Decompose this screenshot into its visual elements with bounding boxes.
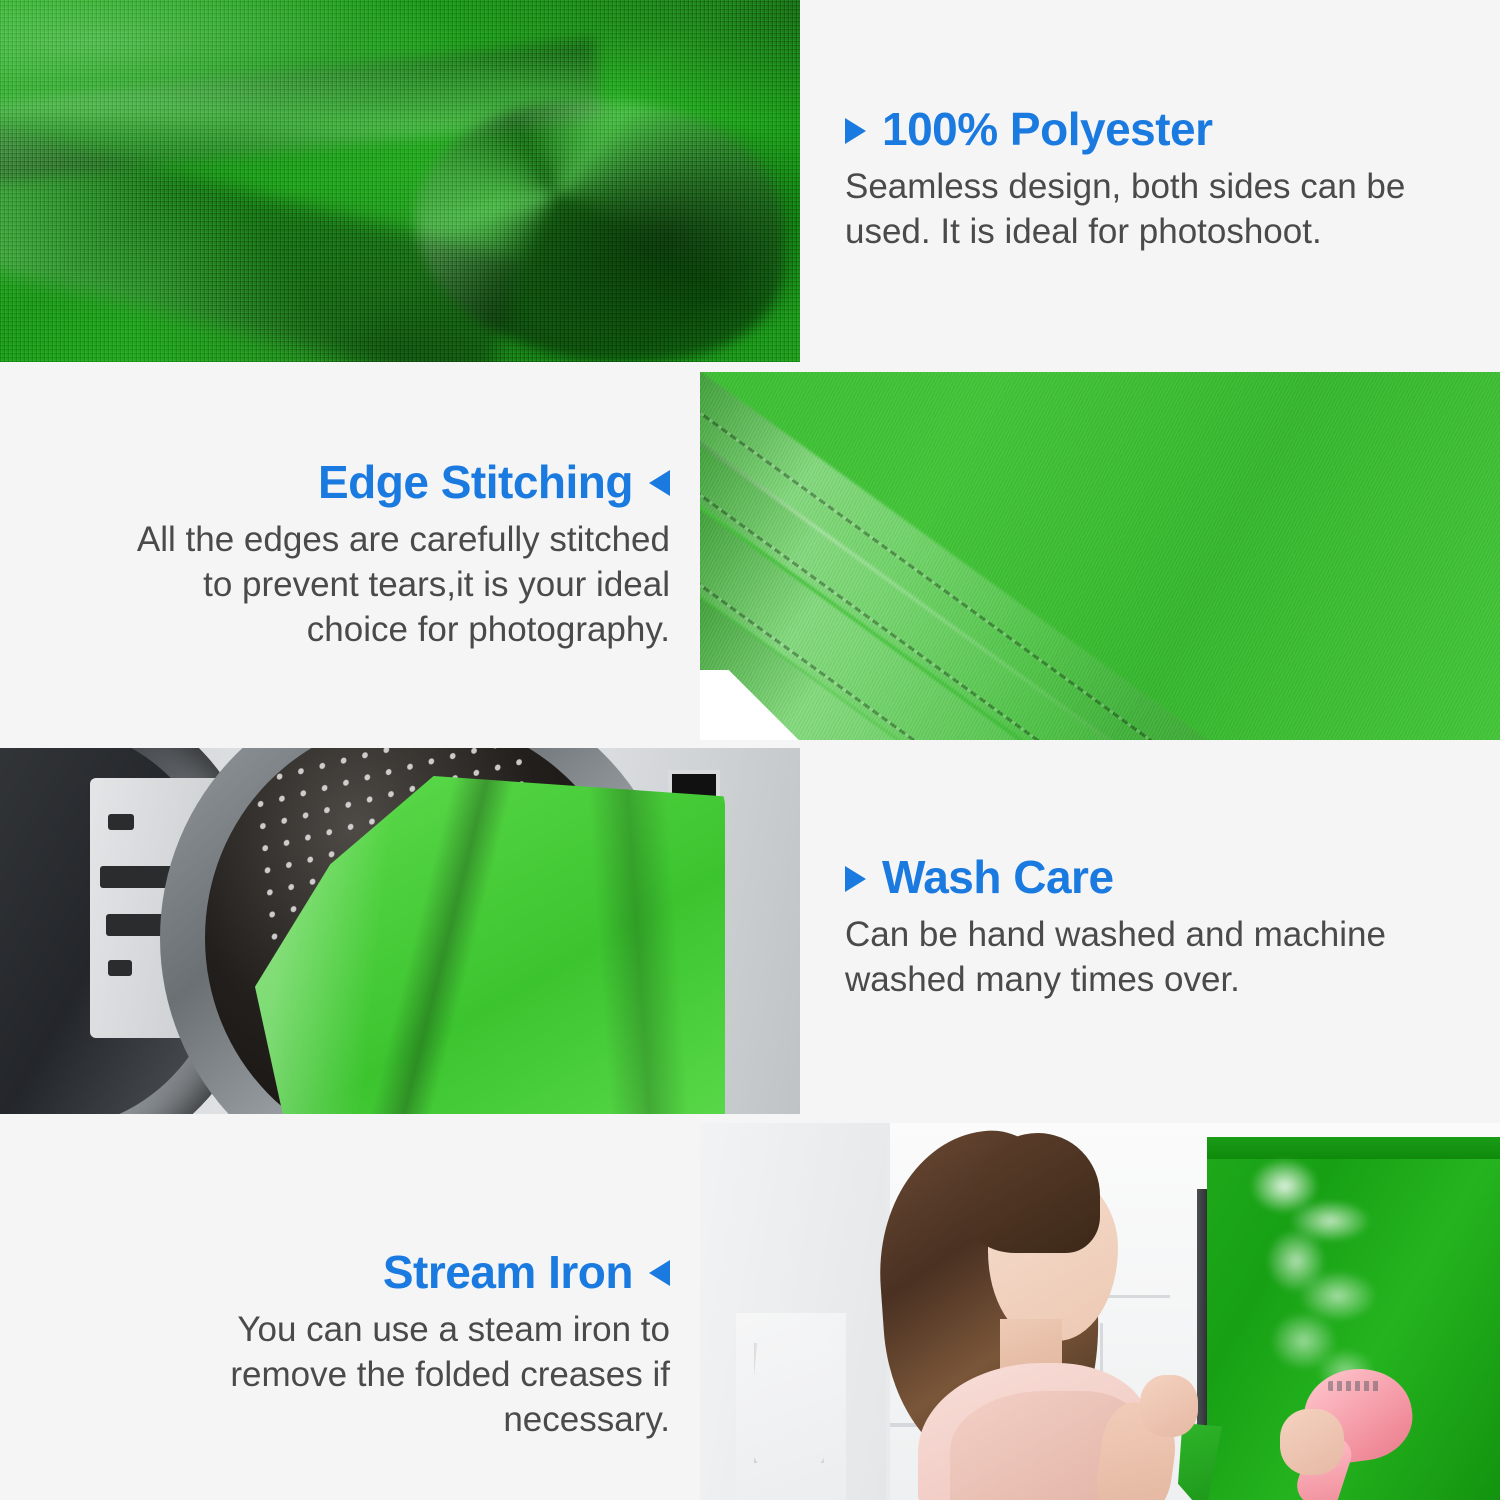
- triangle-right-icon: [845, 866, 866, 892]
- panel-edge-stitching-body: All the edges are carefully stitched to …: [20, 518, 670, 652]
- panel-edge-stitching-text: Edge Stitching All the edges are careful…: [20, 440, 670, 670]
- woman-hand-holding-steamer: [1280, 1409, 1344, 1475]
- panel-edge-stitching-heading: Edge Stitching: [20, 458, 670, 506]
- green-polyester-fabric-photo: [0, 0, 800, 362]
- panel-edge-stitching-heading-label: Edge Stitching: [318, 458, 633, 506]
- washing-machine-with-green-cloth-photo: [0, 748, 800, 1114]
- woman-hand-holding-cloth: [1140, 1375, 1198, 1437]
- steam-plume: [1220, 1151, 1410, 1401]
- wall-art-frame: [736, 1313, 846, 1500]
- triangle-right-icon: [845, 118, 866, 144]
- steamer-brand-mark: [1328, 1381, 1380, 1391]
- panel-stream-iron-text: Stream Iron You can use a steam iron to …: [60, 1230, 670, 1460]
- panel-polyester-text: 100% Polyester Seamless design, both sid…: [845, 55, 1485, 305]
- panel-stream-iron-heading: Stream Iron: [60, 1248, 670, 1296]
- panel-stream-iron-heading-label: Stream Iron: [383, 1248, 633, 1296]
- panel-polyester-heading-label: 100% Polyester: [882, 105, 1213, 153]
- stitched-folded-fabric-photo: [700, 372, 1500, 740]
- panel-stream-iron-body: You can use a steam iron to remove the f…: [60, 1308, 670, 1442]
- panel-wash-care-heading-label: Wash Care: [882, 853, 1114, 901]
- woman-steaming-green-screen-photo: [700, 1123, 1500, 1500]
- stitch-fabric-weave-texture: [700, 372, 1500, 740]
- triangle-left-icon: [649, 1260, 670, 1286]
- washer-button-4: [108, 960, 132, 976]
- fabric-weave-texture: [0, 0, 800, 362]
- washer-button-1: [108, 814, 134, 830]
- panel-wash-care-body: Can be hand washed and machine washed ma…: [845, 913, 1495, 1003]
- triangle-left-icon: [649, 470, 670, 496]
- panel-wash-care-text: Wash Care Can be hand washed and machine…: [845, 818, 1495, 1038]
- panel-polyester-body: Seamless design, both sides can be used.…: [845, 165, 1485, 255]
- product-feature-infographic: 100% Polyester Seamless design, both sid…: [0, 0, 1500, 1500]
- fabric-corner-cutout: [700, 670, 820, 740]
- panel-polyester-heading: 100% Polyester: [845, 105, 1485, 153]
- panel-wash-care-heading: Wash Care: [845, 853, 1495, 901]
